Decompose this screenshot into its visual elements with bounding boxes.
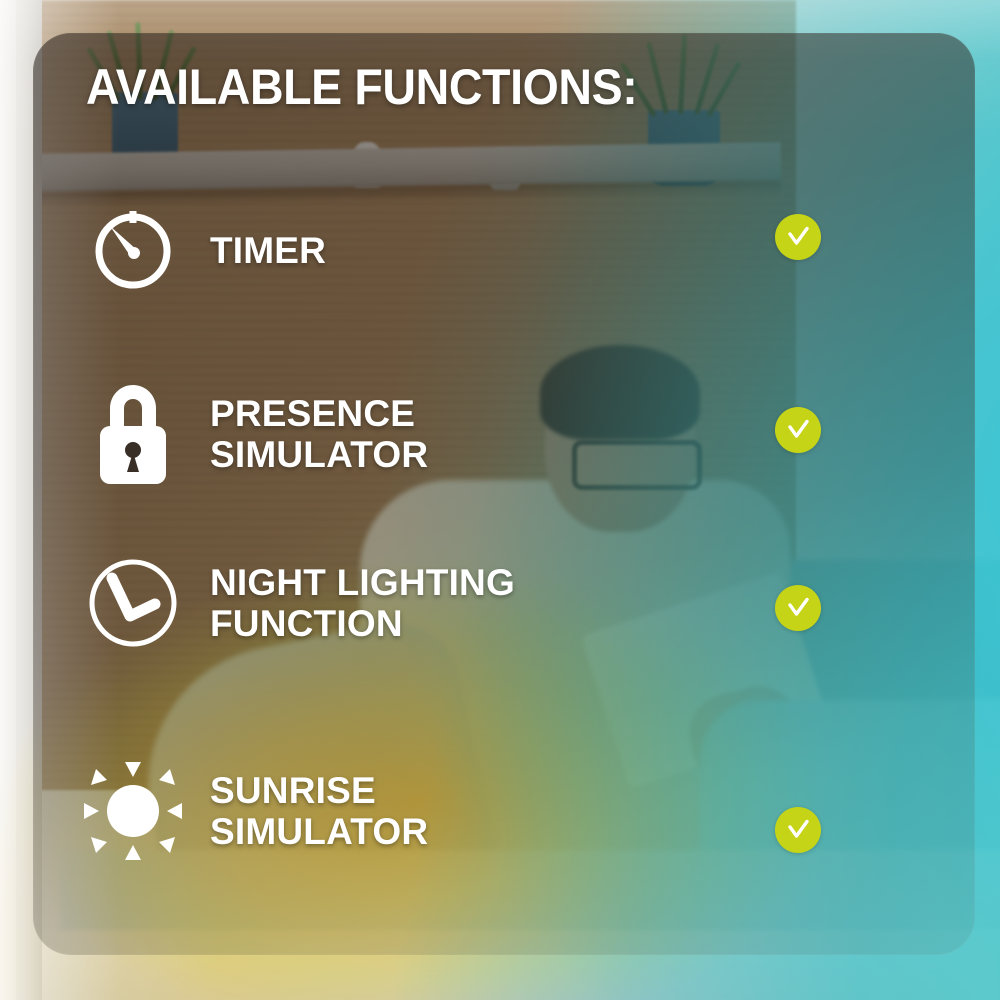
feature-label: SUNRISE SIMULATOR <box>210 770 428 853</box>
feature-label: TIMER <box>210 230 326 271</box>
status-badge-timer <box>775 214 821 260</box>
check-icon <box>784 816 812 844</box>
check-icon <box>784 594 812 622</box>
check-icon <box>784 416 812 444</box>
page-title: AVAILABLE FUNCTIONS: <box>86 58 637 116</box>
status-badge-sunrise-simulator <box>775 807 821 853</box>
status-badge-night-lighting-function <box>775 585 821 631</box>
feature-label: NIGHT LIGHTING FUNCTION <box>210 562 515 645</box>
feature-row-sunrise-simulator[interactable]: SUNRISE SIMULATOR <box>82 760 902 862</box>
status-badge-presence-simulator <box>775 407 821 453</box>
panel-content: AVAILABLE FUNCTIONS: TIMER <box>0 0 1000 1000</box>
clock-icon <box>82 552 210 654</box>
sun-icon <box>82 760 210 862</box>
check-icon <box>784 223 812 251</box>
padlock-icon <box>82 378 210 490</box>
product-feature-card: AVAILABLE FUNCTIONS: TIMER <box>0 0 1000 1000</box>
feature-label: PRESENCE SIMULATOR <box>210 393 428 476</box>
stopwatch-icon <box>82 200 210 302</box>
